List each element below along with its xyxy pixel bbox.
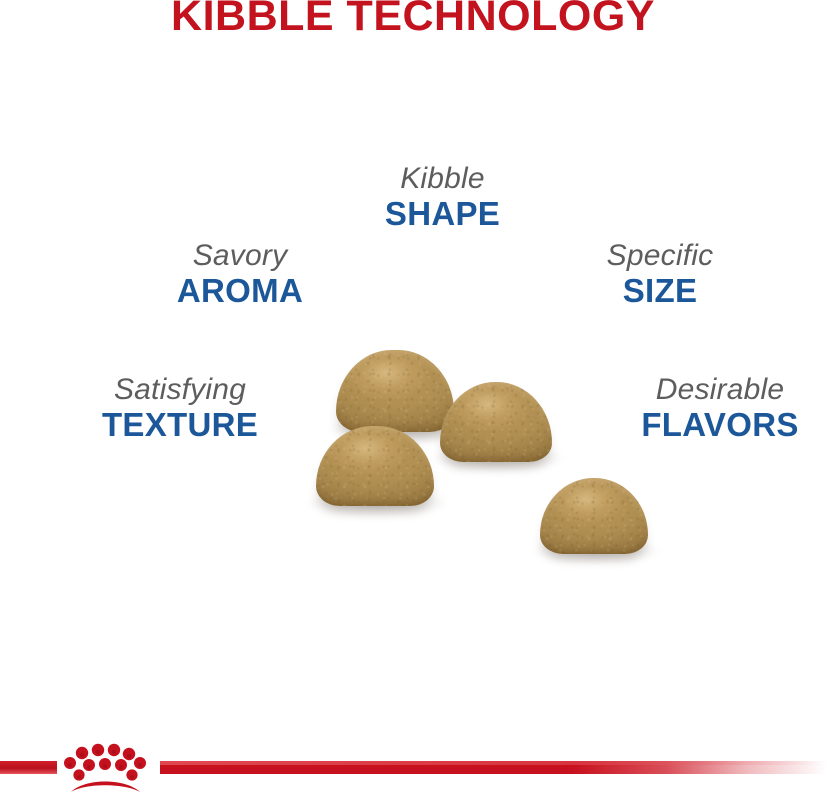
feature-adjective-size: Specific: [565, 240, 755, 272]
feature-label-shape: Kibble SHAPE: [340, 163, 545, 231]
feature-noun-shape: SHAPE: [340, 197, 545, 232]
feature-adjective-texture: Satisfying: [70, 374, 290, 406]
feature-label-size: Specific SIZE: [565, 240, 755, 308]
feature-label-aroma: Savory AROMA: [135, 240, 345, 308]
page-title: KIBBLE TECHNOLOGY: [0, 0, 826, 41]
kibble-pieces-photo: [290, 340, 690, 590]
kibble-piece: [540, 478, 648, 554]
brand-rule-right-segment: [160, 761, 826, 774]
feature-adjective-aroma: Savory: [135, 240, 345, 272]
kibble-piece: [336, 350, 454, 432]
kibble-piece: [440, 382, 552, 462]
feature-noun-aroma: AROMA: [135, 274, 345, 309]
feature-label-texture: Satisfying TEXTURE: [70, 374, 290, 442]
kibble-technology-infographic: KIBBLE TECHNOLOGY Kibble SHAPE Savory AR…: [0, 0, 826, 800]
brand-rule-left-segment: [0, 761, 57, 774]
feature-noun-texture: TEXTURE: [70, 408, 290, 443]
royal-canin-crown-icon: [55, 740, 155, 798]
feature-noun-size: SIZE: [565, 274, 755, 309]
feature-adjective-shape: Kibble: [340, 163, 545, 195]
